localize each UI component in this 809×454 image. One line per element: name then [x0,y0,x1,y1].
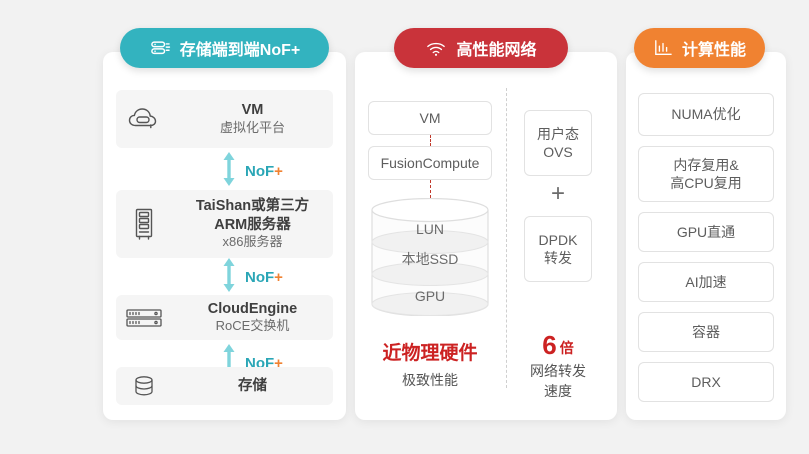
network-box-dpdk[interactable]: DPDK 转发 [524,216,592,282]
network-box-ovs[interactable]: 用户态 OVS [524,110,592,176]
pill-compute-label: 计算性能 [682,36,746,60]
caption-number-row: 6倍 [513,330,603,361]
network-box-vm[interactable]: VM [368,101,492,135]
storage-node-switch-text: CloudEngine RoCE交换机 [172,300,333,335]
connector-nof-1: NoF+ [222,152,283,191]
pill-network-label: 高性能网络 [456,36,536,60]
wifi-icon [425,39,447,57]
bar-chart-icon [653,39,673,57]
compute-item-container[interactable]: 容器 [638,312,774,352]
pill-storage-header: 存储端到端NoF+ [120,28,329,68]
storage-node-switch[interactable]: CloudEngine RoCE交换机 [116,295,333,340]
connector-nof-2: NoF+ [222,258,283,297]
compute-item-gpu-passthrough[interactable]: GPU直通 [638,212,774,252]
cylinder-layer-gpu: GPU [370,288,490,304]
cloud-vm-icon [116,105,172,133]
storage-node-server-text: TaiShan或第三方 ARM服务器 x86服务器 [172,197,333,251]
caption-network-forwarding-speed: 6倍 网络转发 速度 [513,330,603,402]
connector-label-2: NoF+ [245,269,283,286]
cylinder-layer-ssd: 本地SSD [370,249,490,269]
pill-storage-label: 存储端到端NoF+ [180,36,300,60]
dashed-link-1 [430,135,431,146]
dashed-link-2 [430,180,431,198]
pill-compute-header: 计算性能 [634,28,765,68]
caption-near-physical-hardware: 近物理硬件 极致性能 [355,340,505,391]
network-column-divider [506,88,507,388]
database-icon [116,374,172,398]
compute-item-drx[interactable]: DRX [638,362,774,402]
storage-node-store[interactable]: 存储 [116,367,333,405]
pill-network-header: 高性能网络 [394,28,568,68]
compute-item-memory-cpu[interactable]: 内存复用& 高CPU复用 [638,146,774,202]
storage-node-server[interactable]: TaiShan或第三方 ARM服务器 x86服务器 [116,190,333,258]
storage-node-store-text: 存储 [172,377,333,396]
storage-node-vm-text: VM 虚拟化平台 [172,101,333,136]
plus-sign: + [524,182,592,206]
storage-stack-icon [149,39,171,57]
switch-icon [116,306,172,330]
double-arrow-icon [222,152,236,191]
cylinder-layer-lun: LUN [370,221,490,237]
storage-node-vm[interactable]: VM 虚拟化平台 [116,90,333,148]
compute-item-numa[interactable]: NUMA优化 [638,93,774,136]
diagram-canvas: 存储端到端NoF+ VM 虚拟化平台 NoF+ [0,0,809,454]
double-arrow-icon [222,258,236,297]
connector-label-1: NoF+ [245,163,283,180]
rack-server-icon [116,207,172,241]
compute-item-ai-accel[interactable]: AI加速 [638,262,774,302]
network-box-fusioncompute[interactable]: FusionCompute [368,146,492,180]
